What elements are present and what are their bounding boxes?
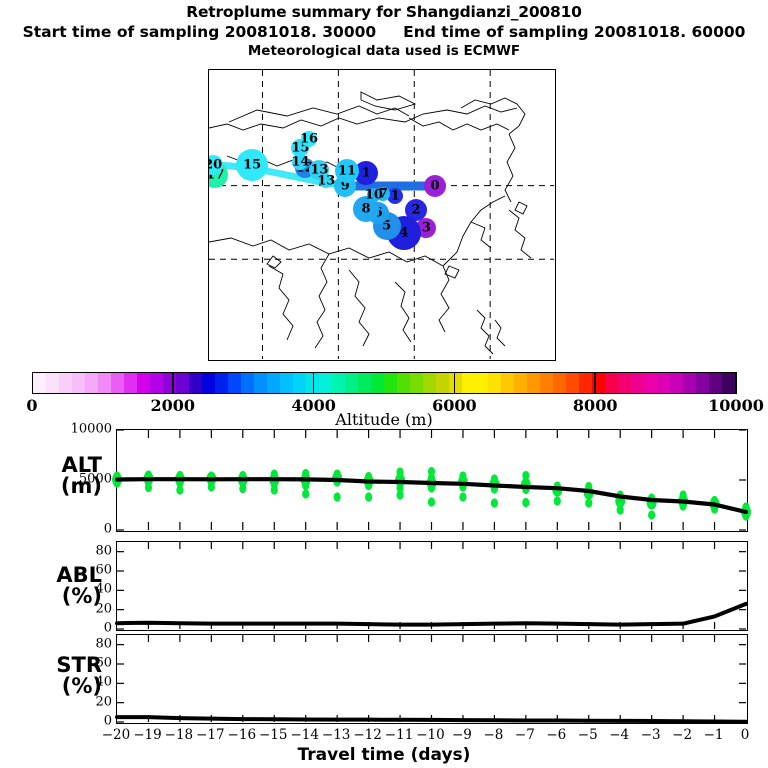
y-tick-label: 20 [95, 694, 112, 709]
x-tick-label: −7 [515, 727, 535, 743]
colorbar-swatch [696, 373, 709, 393]
y-tick-label: 40 [95, 675, 112, 690]
colorbar-swatch [605, 373, 618, 393]
colorbar-swatch [371, 373, 384, 393]
colorbar-swatch [527, 373, 540, 393]
alt-chart-panel[interactable] [116, 429, 748, 532]
colorbar-swatch [150, 373, 163, 393]
colorbar-swatch [683, 373, 696, 393]
colorbar-swatch [423, 373, 436, 393]
x-tick-label: −1 [704, 727, 724, 743]
x-tick-label: −17 [196, 727, 225, 743]
colorbar-swatch [631, 373, 644, 393]
colorbar-swatch [397, 373, 410, 393]
colorbar-swatch [280, 373, 293, 393]
y-tick-label: 80 [95, 636, 112, 651]
colorbar-swatch [228, 373, 241, 393]
colorbar-swatch [254, 373, 267, 393]
abl-chart-graphics [117, 542, 746, 629]
colorbar-swatch [670, 373, 683, 393]
colorbar-swatch [709, 373, 722, 393]
y-tick-label: 0 [104, 522, 112, 537]
colorbar-tick [735, 372, 737, 394]
colorbar-tick [454, 372, 456, 394]
x-tick-label: −11 [385, 727, 414, 743]
retroplume-map[interactable]: 011234567891011121313141515161720 [208, 69, 556, 361]
x-tick-label: −2 [672, 727, 692, 743]
map-marker[interactable] [236, 149, 268, 181]
coastlines [209, 92, 531, 354]
alt-chart-graphics [117, 430, 746, 530]
colorbar-swatch [488, 373, 501, 393]
colorbar-swatch [33, 373, 46, 393]
colorbar-tick [313, 372, 315, 394]
y-tick-label: 60 [95, 656, 112, 671]
abl-chart-panel[interactable] [116, 541, 748, 631]
colorbar-swatch [449, 373, 462, 393]
colorbar-tick [172, 372, 174, 394]
colorbar-swatch [215, 373, 228, 393]
x-tick-label: −10 [416, 727, 445, 743]
colorbar-swatch [540, 373, 553, 393]
map-marker[interactable] [301, 131, 317, 147]
colorbar-swatch [202, 373, 215, 393]
colorbar-swatch [657, 373, 670, 393]
colorbar-swatch [553, 373, 566, 393]
alt-ytick-labels: 0500010000 [36, 429, 112, 532]
colorbar-swatch [137, 373, 150, 393]
x-tick-label: −16 [228, 727, 257, 743]
colorbar-swatch [514, 373, 527, 393]
colorbar-swatch [618, 373, 631, 393]
colorbar-swatch [98, 373, 111, 393]
colorbar-swatch [475, 373, 488, 393]
x-tick-label: −6 [546, 727, 566, 743]
x-tick-label: −8 [483, 727, 503, 743]
colorbar-swatch [319, 373, 332, 393]
colorbar-swatch [59, 373, 72, 393]
y-tick-label: 10000 [71, 422, 112, 437]
colorbar-swatch [722, 373, 735, 393]
colorbar-swatch [111, 373, 124, 393]
colorbar-swatch [241, 373, 254, 393]
colorbar-swatch [462, 373, 475, 393]
colorbar-tick [594, 372, 596, 394]
colorbar-swatch [189, 373, 202, 393]
x-tick-label: −13 [322, 727, 351, 743]
y-tick-label: 20 [95, 601, 112, 616]
colorbar-swatch [163, 373, 176, 393]
x-tick-label: −9 [452, 727, 472, 743]
map-marker[interactable] [424, 175, 446, 197]
colorbar-swatch [410, 373, 423, 393]
colorbar-swatch [345, 373, 358, 393]
x-tick-label: −18 [165, 727, 194, 743]
colorbar-swatch [124, 373, 137, 393]
x-tick-label: −19 [133, 727, 162, 743]
altitude-colorbar [32, 372, 736, 394]
colorbar-swatch [72, 373, 85, 393]
colorbar-swatch [46, 373, 59, 393]
colorbar-title: Altitude (m) [0, 410, 768, 429]
colorbar-swatch [293, 373, 306, 393]
colorbar-swatch [501, 373, 514, 393]
x-tick-label: −14 [290, 727, 319, 743]
map-marker[interactable] [335, 159, 359, 183]
y-tick-label: 5000 [79, 472, 112, 487]
x-tick-label: −3 [641, 727, 661, 743]
str-chart-graphics [117, 635, 746, 722]
sampling-times: Start time of sampling 20081018. 30000 E… [0, 23, 768, 41]
colorbar-swatch [85, 373, 98, 393]
colorbar-swatch [358, 373, 371, 393]
x-tick-label: −12 [353, 727, 382, 743]
y-tick-label: 80 [95, 543, 112, 558]
colorbar-swatch [332, 373, 345, 393]
x-tick-label: 0 [741, 727, 750, 743]
colorbar-swatch [566, 373, 579, 393]
header-block: Retroplume summary for Shangdianzi_20081… [0, 0, 768, 59]
x-tick-label: −4 [609, 727, 629, 743]
abl-ytick-labels: 020406080 [36, 541, 112, 631]
x-tick-label: −5 [578, 727, 598, 743]
colorbar-swatch [579, 373, 592, 393]
str-chart-panel[interactable] [116, 634, 748, 724]
y-tick-label: 40 [95, 582, 112, 597]
map-marker[interactable] [367, 188, 381, 202]
colorbar-swatch [176, 373, 189, 393]
map-marker[interactable] [319, 174, 333, 188]
str-ytick-labels: 020406080 [36, 634, 112, 724]
colorbar-swatch [267, 373, 280, 393]
y-tick-label: 60 [95, 563, 112, 578]
x-tick-label: −15 [259, 727, 288, 743]
x-tick-label: −20 [102, 727, 131, 743]
x-axis-title: Travel time (days) [0, 745, 768, 765]
colorbar-swatch [436, 373, 449, 393]
colorbar-swatch [644, 373, 657, 393]
met-data-line: Meteorological data used is ECMWF [0, 43, 768, 59]
page-title: Retroplume summary for Shangdianzi_20081… [0, 3, 768, 21]
colorbar-swatch [384, 373, 397, 393]
